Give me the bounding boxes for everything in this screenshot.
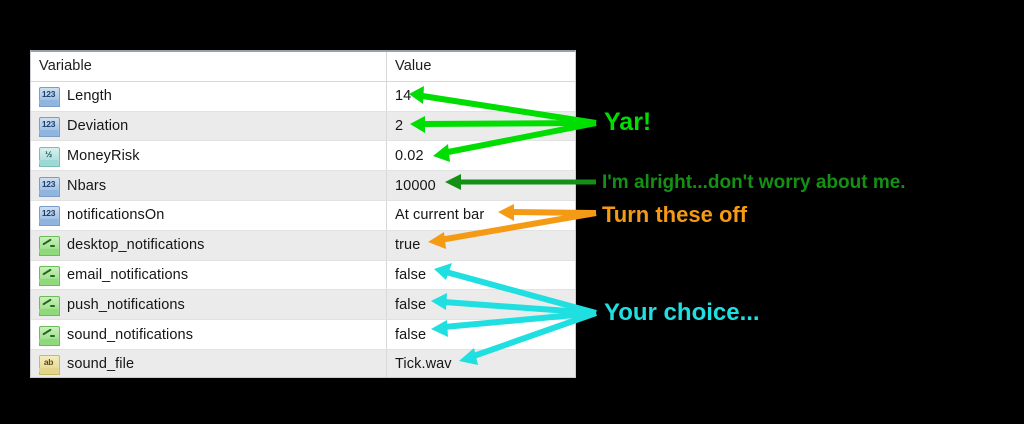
double-type-icon: ½: [39, 147, 58, 165]
table-header-row: Variable Value: [31, 52, 575, 82]
variable-value: false: [395, 267, 426, 283]
variable-value: Tick.wav: [395, 356, 452, 372]
table-row[interactable]: ½ MoneyRisk 0.02: [31, 141, 575, 171]
variable-name: MoneyRisk: [67, 148, 140, 164]
table-row[interactable]: 123 Length 14: [31, 82, 575, 112]
table-row[interactable]: 123 Deviation 2: [31, 112, 575, 142]
variable-name: sound_notifications: [67, 327, 193, 343]
int-type-icon: 123: [39, 206, 58, 224]
variable-value: At current bar: [395, 207, 484, 223]
value-cell[interactable]: 10000: [387, 171, 575, 200]
int-type-icon: 123: [39, 87, 58, 105]
column-header-variable[interactable]: Variable: [31, 52, 387, 81]
table-row[interactable]: 123 Nbars 10000: [31, 171, 575, 201]
value-cell[interactable]: 14: [387, 82, 575, 111]
variable-name: desktop_notifications: [67, 237, 205, 253]
variable-cell[interactable]: desktop_notifications: [31, 231, 387, 260]
table-row[interactable]: desktop_notifications true: [31, 231, 575, 261]
bool-type-icon: [39, 266, 58, 284]
value-cell[interactable]: At current bar: [387, 201, 575, 230]
variable-value: 14: [395, 88, 411, 104]
variable-cell[interactable]: 123 Nbars: [31, 171, 387, 200]
column-header-value[interactable]: Value: [387, 52, 575, 81]
variable-name: sound_file: [67, 356, 134, 372]
string-type-icon: ab: [39, 355, 58, 373]
variable-cell[interactable]: email_notifications: [31, 261, 387, 290]
value-cell[interactable]: false: [387, 290, 575, 319]
bool-type-icon: [39, 236, 58, 254]
value-cell[interactable]: false: [387, 320, 575, 349]
variable-cell[interactable]: push_notifications: [31, 290, 387, 319]
table-row[interactable]: email_notifications false: [31, 261, 575, 291]
value-cell[interactable]: 2: [387, 112, 575, 141]
bool-type-icon: [39, 296, 58, 314]
value-cell[interactable]: false: [387, 261, 575, 290]
variable-name: email_notifications: [67, 267, 188, 283]
variable-name: notificationsOn: [67, 207, 164, 223]
table-row[interactable]: sound_notifications false: [31, 320, 575, 350]
screenshot-root: Variable Value 123 Length 14: [0, 0, 1024, 424]
value-cell[interactable]: Tick.wav: [387, 350, 575, 378]
column-header-value-label: Value: [395, 58, 432, 74]
variable-value: 2: [395, 118, 403, 134]
properties-table[interactable]: Variable Value 123 Length 14: [30, 50, 576, 378]
value-cell[interactable]: 0.02: [387, 141, 575, 170]
int-type-icon: 123: [39, 177, 58, 195]
variable-value: 0.02: [395, 148, 424, 164]
table-row[interactable]: 123 notificationsOn At current bar: [31, 201, 575, 231]
variable-name: Nbars: [67, 178, 106, 194]
variable-name: Length: [67, 88, 112, 104]
int-type-icon: 123: [39, 117, 58, 135]
annotation-label-yar: Yar!: [604, 108, 651, 137]
variable-name: Deviation: [67, 118, 128, 134]
variable-name: push_notifications: [67, 297, 185, 313]
variable-value: false: [395, 297, 426, 313]
variable-cell[interactable]: 123 Length: [31, 82, 387, 111]
bool-type-icon: [39, 326, 58, 344]
variable-cell[interactable]: sound_notifications: [31, 320, 387, 349]
table-row[interactable]: push_notifications false: [31, 290, 575, 320]
variable-value: 10000: [395, 178, 436, 194]
variable-value: true: [395, 237, 420, 253]
annotation-label-alright: I'm alright...don't worry about me.: [602, 172, 906, 194]
variable-cell[interactable]: 123 Deviation: [31, 112, 387, 141]
value-cell[interactable]: true: [387, 231, 575, 260]
variable-cell[interactable]: 123 notificationsOn: [31, 201, 387, 230]
annotation-label-turn-these-off: Turn these off: [602, 202, 747, 228]
column-header-variable-label: Variable: [39, 58, 92, 74]
variable-value: false: [395, 327, 426, 343]
variable-cell[interactable]: ab sound_file: [31, 350, 387, 378]
table-row[interactable]: ab sound_file Tick.wav: [31, 350, 575, 378]
annotation-label-your-choice: Your choice...: [604, 299, 760, 327]
variable-cell[interactable]: ½ MoneyRisk: [31, 141, 387, 170]
